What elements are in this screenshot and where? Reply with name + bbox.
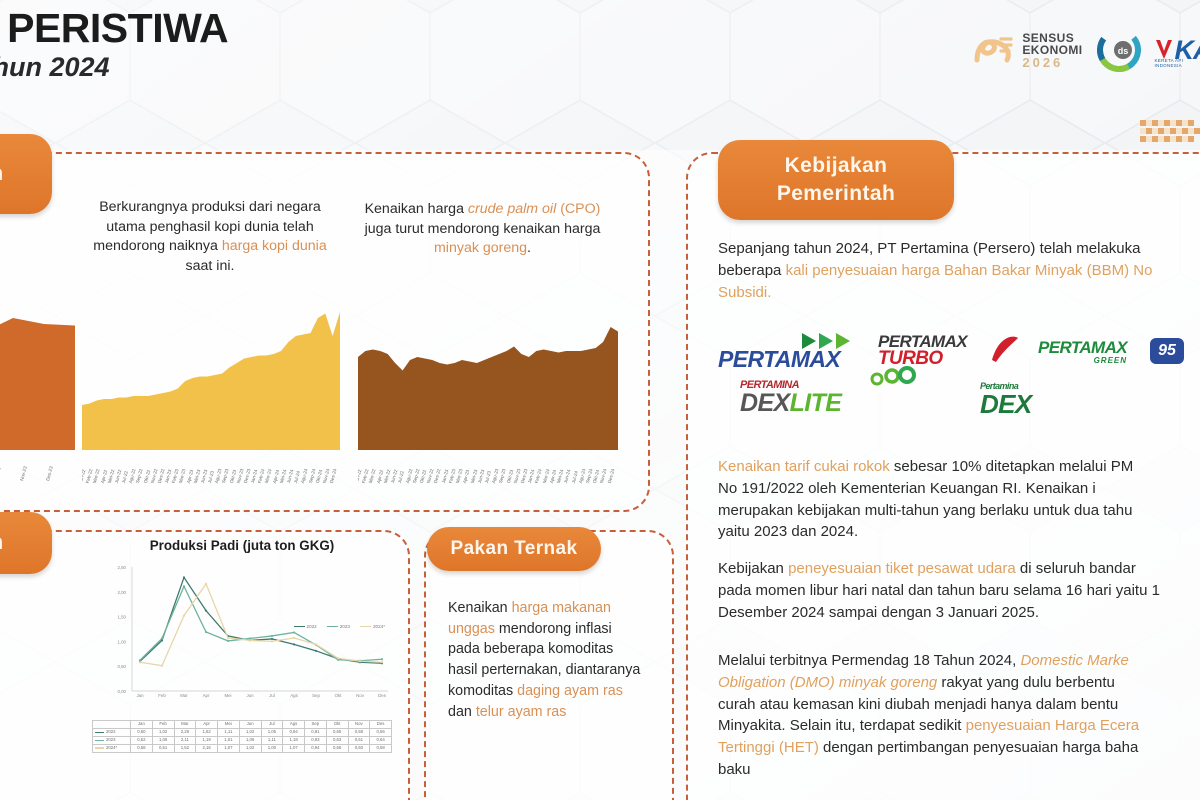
y-tick-label: 1,50 [117, 615, 126, 620]
series-point [183, 615, 185, 617]
rp2-b: No 191/2022 oleh Kementerian Keuangan RI… [718, 480, 1096, 497]
table-cell: 0,51 [152, 744, 174, 752]
rp4-highlight-3: penyesuaian Harga Ecera [966, 717, 1139, 734]
series-point [139, 659, 141, 661]
pertamax-green-95-badge: 95 [1150, 338, 1184, 364]
blurb-a-line1: unia [0, 222, 72, 242]
pill-bottom-left-label: n [0, 529, 4, 557]
table-cell: 1,00 [261, 744, 283, 752]
x-tick-label: Des [378, 693, 387, 698]
series-point [271, 640, 273, 642]
table-cell: 0,60 [348, 744, 370, 752]
right-paragraph-dmo-minyak-goreng: Melalui terbitnya Permendag 18 Tahun 202… [718, 650, 1200, 781]
table-cell: 1,11 [261, 736, 283, 744]
table-cell: 1,05 [261, 728, 283, 736]
rp1-a: Sepanjang tahun 2024, PT Pertamina (Pers… [718, 240, 1140, 257]
series-point [249, 639, 251, 641]
blurb-pertanian: erdampak en padi di ertanian an harga aw… [0, 578, 72, 718]
legend-label: 2022 [307, 624, 317, 629]
table-col-header: Sep [305, 721, 327, 729]
chart-produksi-padi-svg: 2,502,001,501,000,500,00 JanFebMarAprMei… [92, 559, 392, 719]
chart-harga-cpo: Jan-22Feb-22Mar-22Apr-22Mei-22Jun-22Jul-… [358, 300, 618, 488]
rp4-c: curah atau kemasan kini diubah menjadi h… [718, 696, 1118, 713]
table-col-header: Okt [326, 721, 348, 729]
page-header: AN PERISTIWA g Tahun 2024 [0, 8, 760, 118]
rp2-d: yaitu 2023 dan 2024. [718, 523, 858, 540]
rp3-highlight: peneyesuaian tiket pesawat udara [788, 560, 1016, 577]
table-cell: 2,29 [174, 728, 196, 736]
dexlite-lite-wordmark: LITE [790, 389, 842, 417]
right-paragraph-pertamina: Sepanjang tahun 2024, PT Pertamina (Pers… [718, 238, 1200, 303]
row-swatch [95, 747, 104, 749]
chart-produksi-padi-legend: 202220232024* [291, 623, 388, 630]
bps-circle-logo-icon: ds [1097, 28, 1141, 72]
legend-item-2023: 2023 [327, 624, 350, 629]
blurb-cpo: Kenaikan harga crude palm oil (CPO) juga… [360, 200, 605, 259]
chart-inflasi: Jul-23Agu-23Sep-23Okt-23Nov-23Des-23 [0, 300, 75, 488]
x-tick-label: Mar [180, 693, 188, 698]
rp1-c: Subsidi. [718, 284, 771, 301]
pertamax-turbo-logo: PERTAMAX TURBO [878, 334, 967, 368]
series-point [359, 660, 361, 662]
x-tick-label: Jun [246, 693, 254, 698]
table-cell: 1,01 [218, 736, 240, 744]
blurb-c-highlight-cpo: crude palm oil [468, 201, 556, 217]
table-cell: 0,94 [283, 728, 305, 736]
legend-swatch [327, 626, 338, 628]
table-col-header: Jun [239, 721, 261, 729]
page-title-rest: PERISTIWA [0, 5, 228, 51]
table-row-key: 2023 [93, 736, 131, 744]
rp4-a: Melalui terbitnya Permendag 18 Tahun 202… [718, 652, 1020, 669]
bl-paragraph-2: ertanian an harga awang erfluktuatif [0, 635, 72, 717]
series-point [315, 650, 317, 652]
pill-left-title: n [0, 134, 52, 214]
table-cell: 0,62 [131, 736, 153, 744]
rp2-highlight: Kenaikan tarif cukai rokok [718, 458, 890, 475]
table-cell: 0,64 [370, 736, 392, 744]
x-tick-label: Jan [136, 693, 144, 698]
rp4-highlight-1: Domestic Marke [1020, 652, 1128, 669]
pakan-text-3: dan [448, 704, 476, 720]
chart-inflasi-svg [0, 300, 75, 450]
series-point [293, 631, 295, 633]
bl-paragraph-1: erdampak en padi di [0, 578, 72, 619]
pakan-highlight-3: telur ayam ras [476, 704, 567, 720]
series-point [337, 657, 339, 659]
rp4-highlight-2: Obligation (DMO) minyak goreng [718, 674, 937, 691]
x-tick-label: Okt [335, 693, 343, 698]
logo-row: SENSUS EKONOMI 2026 ds KAI KERETA API IN… [971, 28, 1200, 72]
pill-kebijakan-title: Kebijakan Pemerintah [718, 140, 954, 220]
pertamax-green-sub: GREEN [1094, 356, 1127, 365]
rp2-a: sebesar 10% ditetapkan melalui PM [890, 458, 1133, 475]
table-cell: 2,11 [174, 736, 196, 744]
table-col-header: Apr [196, 721, 218, 729]
series-point [381, 658, 383, 660]
table-cell: 1,02 [152, 728, 174, 736]
table-header-row: JanFebMarAprMeiJunJulAgsSepOktNovDes [93, 721, 392, 729]
chart-produksi-padi: Produksi Padi (juta ton GKG) 2,502,001,5… [92, 538, 392, 796]
x-tick-label: Jul [269, 693, 275, 698]
rp1-highlight: kali penyesuaian harga Bahan Bakar Minya… [786, 262, 1153, 279]
series-point [271, 635, 273, 637]
pakan-text-1: Kenaikan [448, 600, 512, 616]
page-title: AN PERISTIWA [0, 8, 760, 49]
pill-left-label: n [0, 160, 4, 188]
pill-bottom-left-title: n [0, 512, 52, 574]
series-line-2022 [140, 577, 382, 663]
blurb-c-text3: . [527, 240, 531, 256]
table-col-header: Jan [131, 721, 153, 729]
series-point [293, 643, 295, 645]
y-tick-label: 0,50 [117, 664, 126, 669]
turbo-swoosh-icon [988, 332, 1022, 366]
pertamina-dexlite-logo: PERTAMINA DEXLITE [740, 380, 841, 416]
table-cell: 0,56 [370, 728, 392, 736]
pill-right-line1: Kebijakan [785, 152, 888, 180]
table-cell: 1,62 [196, 728, 218, 736]
pertamina-dex-logo: Pertamina DEX [980, 382, 1032, 417]
table-cell: 1,11 [218, 728, 240, 736]
rp1-b: beberapa [718, 262, 786, 279]
chart-harga-kopi-dunia: Jan-22Feb-22Mar-22Apr-22Mei-22Jun-22Jul-… [82, 300, 340, 488]
table-row-key: 2022 [93, 728, 131, 736]
table-cell: 1,07 [283, 744, 305, 752]
y-tick-label: 1,00 [117, 639, 126, 644]
blurb-b-highlight: harga kopi dunia [222, 238, 327, 254]
pertamina-logo-row-2: PERTAMINA DEXLITE Pertamina DEX [740, 380, 1160, 426]
pertamax-green-logo: PERTAMAX GREEN [1038, 340, 1127, 365]
chart-kopi-svg [82, 300, 340, 450]
row-label: 2022 [106, 730, 116, 735]
rp4-highlight-4: Tertinggi (HET) [718, 739, 819, 756]
y-tick-label: 2,00 [117, 590, 126, 595]
legend-swatch [294, 626, 305, 628]
y-tick-label: 0,00 [117, 689, 126, 694]
legend-item-2024*: 2024* [360, 624, 385, 629]
table-col-header: Mei [218, 721, 240, 729]
table-cell: 0,81 [305, 728, 327, 736]
pertamax-green-95-label: 95 [1158, 342, 1176, 360]
page-subtitle: g Tahun 2024 [0, 52, 760, 83]
blurb-pakan-ternak: Kenaikan harga makanan unggas mendorong … [448, 598, 646, 722]
chart-kopi-xaxis: Jan-22Feb-22Mar-22Apr-22Mei-22Jun-22Jul-… [82, 450, 340, 484]
chart-inflasi-xaxis: Jul-23Agu-23Sep-23Okt-23Nov-23Des-23 [0, 450, 75, 484]
table-col-header: Nov [348, 721, 370, 729]
row-label: 2024* [106, 746, 117, 751]
blurb-inflasi: unia flasi iasan. [0, 222, 72, 282]
table-cell: 1,06 [152, 736, 174, 744]
table-row: 2024*0,580,511,522,161,071,021,001,070,9… [93, 744, 392, 752]
table-cell: 0,93 [305, 736, 327, 744]
chart-produksi-padi-title: Produksi Padi (juta ton GKG) [92, 538, 392, 553]
table-cell: 0,58 [348, 728, 370, 736]
table-cell: 0,63 [326, 736, 348, 744]
table-row-key: 2024* [93, 744, 131, 752]
table-col-header: Feb [152, 721, 174, 729]
table-cell: 0,61 [348, 736, 370, 744]
series-point [161, 665, 163, 667]
blurb-a-line3: iasan. [0, 262, 72, 282]
table-cell: 0,94 [305, 744, 327, 752]
right-paragraph-tiket-pesawat: Kebijakan peneyesuaian tiket pesawat uda… [718, 558, 1200, 623]
blurb-c-highlight-abbr: (CPO) [560, 201, 600, 217]
table-col-header: Ags [283, 721, 305, 729]
legend-label: 2024* [373, 624, 385, 629]
rp4-f: baku [718, 761, 751, 778]
sensus-line2: EKONOMI [1022, 44, 1082, 56]
x-tick-label: Ags [290, 693, 298, 698]
y-tick-label: 2,50 [117, 565, 126, 570]
blurb-kopi: Berkurangnya produksi dari negara utama … [85, 198, 335, 276]
x-tick-label: Nov [356, 693, 365, 698]
series-point [205, 610, 207, 612]
svg-text:ds: ds [1117, 46, 1128, 56]
kai-logo: KAI KERETA API INDONESIA [1155, 35, 1200, 66]
table-cell: 1,06 [239, 736, 261, 744]
table-col-header: Des [370, 721, 392, 729]
blurb-b-text2: saat ini. [186, 258, 235, 274]
blurb-c-highlight-migor: minyak goreng [434, 240, 527, 256]
table-row: 20220,601,022,291,621,111,021,050,940,81… [93, 728, 392, 736]
sensus-line1: SENSUS [1022, 32, 1082, 44]
x-tick-label: Mei [224, 693, 231, 698]
sensus-ekonomi-logo: SENSUS EKONOMI 2026 [971, 30, 1082, 70]
row-swatch [95, 732, 104, 734]
series-point [183, 576, 185, 578]
table-cell: 1,02 [239, 728, 261, 736]
legend-label: 2023 [340, 624, 350, 629]
right-paragraph-cukai-rokok: Kenaikan tarif cukai rokok sebesar 10% d… [718, 456, 1200, 543]
chart-cpo-xaxis: Jan-22Feb-22Mar-22Apr-22Mei-22Jun-22Jul-… [358, 450, 618, 484]
rp4-e: dengan pertimbangan penyesuaian harga ba… [819, 739, 1138, 756]
series-point [183, 585, 185, 587]
rp2-c: merupakan kebijakan multi-tahun yang ber… [718, 502, 1132, 519]
sensus-ekonomi-mark-icon [971, 30, 1017, 70]
table-cell: 1,18 [283, 736, 305, 744]
checker-decoration [1138, 118, 1200, 148]
row-label: 2023 [106, 738, 116, 743]
series-point [139, 661, 141, 663]
series-point [205, 631, 207, 633]
rp4-d: Minyakita. Selain itu, terdapat sedikit [718, 717, 966, 734]
table-row: 20230,621,062,111,191,011,061,111,180,93… [93, 736, 392, 744]
series-point [315, 643, 317, 645]
rp3-a: Kebijakan [718, 560, 788, 577]
chart-produksi-padi-plot: 2,502,001,501,000,500,00 JanFebMarAprMei… [92, 559, 392, 719]
blurb-c-text1: Kenaikan harga [365, 201, 468, 217]
sensus-ekonomi-wordmark: SENSUS EKONOMI 2026 [1022, 32, 1082, 69]
x-tick-label: Feb [158, 693, 166, 698]
series-point [271, 638, 273, 640]
table-cell: 0,65 [326, 728, 348, 736]
table-cell: 1,19 [196, 736, 218, 744]
sensus-year: 2026 [1022, 56, 1082, 69]
table-corner-cell [93, 721, 131, 729]
pertamax-green-wordmark: PERTAMAX [1038, 340, 1127, 356]
table-cell: 0,58 [131, 744, 153, 752]
table-cell: 0,60 [131, 728, 153, 736]
series-point [249, 637, 251, 639]
rp3-c: pada momen libur hari natal dan tahun ba… [718, 582, 1160, 599]
series-point [293, 637, 295, 639]
blurb-c-text2: juga turut mendorong kenaikan harga [365, 221, 601, 237]
pill-right-line2: Pemerintah [777, 180, 895, 208]
pakan-highlight-2: daging ayam ras [517, 683, 623, 699]
series-point [227, 637, 229, 639]
x-tick-label: Apr [203, 693, 210, 698]
dexlite-dex-wordmark: DEX [740, 389, 790, 417]
table-cell: 1,02 [239, 744, 261, 752]
chart-produksi-padi-table: JanFebMarAprMeiJunJulAgsSepOktNovDes 202… [92, 720, 392, 753]
pill-pakan-label: Pakan Ternak [451, 536, 578, 562]
rp3-b: di seluruh bandar [1016, 560, 1136, 577]
pertamina-logo-row-1: PERTAMAX PERTAMAX TURBO PERTAMAX GREEN 9… [718, 336, 1200, 380]
kai-subtitle: KERETA API INDONESIA [1155, 58, 1200, 68]
pill-pakan-ternak-title: Pakan Ternak [427, 527, 601, 571]
dexlite-gears-icon [868, 366, 916, 386]
table-cell: 0,58 [370, 744, 392, 752]
dex-wordmark: DEX [980, 391, 1032, 417]
legend-item-2022: 2022 [294, 624, 317, 629]
pertamax-arrows-icon [800, 330, 852, 352]
table-cell: 1,52 [174, 744, 196, 752]
rp3-d: Desember 2024 sampai dengan 3 Januari 20… [718, 604, 1039, 621]
legend-swatch [360, 626, 371, 628]
table-col-header: Mar [174, 721, 196, 729]
table-cell: 0,66 [326, 744, 348, 752]
chart-cpo-svg [358, 300, 618, 450]
series-point [205, 583, 207, 585]
table-cell: 2,16 [196, 744, 218, 752]
table-col-header: Jul [261, 721, 283, 729]
series-point [161, 637, 163, 639]
row-swatch [95, 740, 104, 742]
series-point [381, 661, 383, 663]
series-point [227, 640, 229, 642]
rp4-b: rakyat yang dulu berbentu [937, 674, 1115, 691]
blurb-a-line2: flasi [0, 242, 72, 262]
x-tick-label: Sep [312, 693, 320, 698]
table-cell: 1,07 [218, 744, 240, 752]
